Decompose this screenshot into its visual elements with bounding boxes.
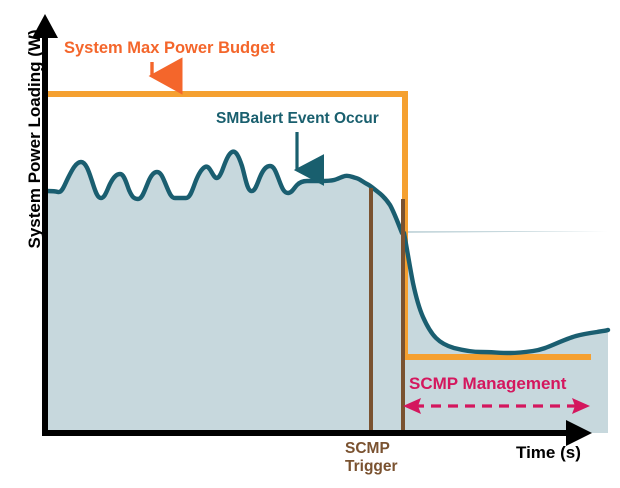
scmp-trigger-label-line1: SCMP [345, 440, 398, 458]
chart-canvas [0, 0, 620, 488]
smbalert-event-marker-line [369, 188, 373, 436]
scmp-management-label: SCMP Management [409, 375, 566, 393]
max-power-budget-label: System Max Power Budget [64, 40, 275, 57]
x-axis-label: Time (s) [516, 444, 581, 462]
scmp-trigger-label: SCMP Trigger [345, 440, 398, 476]
scmp-trigger-marker-line [401, 199, 405, 436]
y-axis-label: System Power Loading (W) [26, 9, 44, 269]
scmp-trigger-label-line2: Trigger [345, 458, 398, 476]
power-loading-chart: System Power Loading (W) Time (s) System… [0, 0, 620, 488]
smbalert-event-label: SMBalert Event Occur [216, 111, 379, 127]
